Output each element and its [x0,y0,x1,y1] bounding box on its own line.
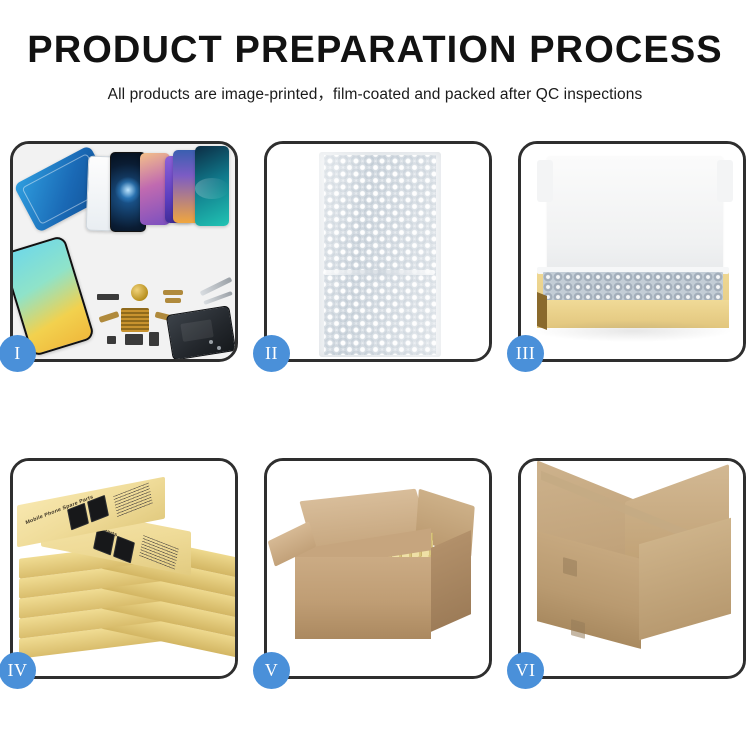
part-screw-2 [217,346,221,350]
process-step-panel-2: II [264,141,492,362]
box-label-phone-image-4 [113,536,135,564]
part-speaker-coil [131,284,148,301]
process-step-panel-5: V [264,458,492,679]
part-flex-cable-1 [163,290,183,295]
process-step-panel-1: I [10,141,238,362]
page-header: PRODUCT PREPARATION PROCESS All products… [0,0,750,104]
carton-side-face [431,530,471,632]
part-logic-board [166,305,235,359]
bubble-wrap-sheet [319,152,441,357]
process-step-panel-6: VI [518,458,746,679]
bubble-wrap-texture [324,155,436,355]
box-label-spec-lines-2 [139,535,179,570]
phone-screen-teal [195,146,229,226]
inner-box-shadow [533,320,733,342]
bubble-wrap-seam [323,270,435,275]
inner-box-bubble-fill [543,272,723,302]
part-connector [97,294,119,300]
part-chip-array [121,308,149,332]
process-step-panel-3: III [518,141,746,362]
step-badge-6: VI [507,652,544,689]
part-screw-1 [209,340,213,344]
sealed-carton-tab-upper [563,557,577,577]
part-camera-module [125,334,143,345]
step-2-image [267,144,489,359]
part-button-small [107,336,116,344]
step-badge-2: II [253,335,290,372]
page-subtitle: All products are image-printed，film-coat… [0,71,750,104]
sealed-carton-tab-lower [571,619,585,639]
part-flex-cable-2 [165,298,181,303]
step-badge-1: I [0,335,36,372]
process-step-grid: I II III [10,141,741,679]
page-title: PRODUCT PREPARATION PROCESS [0,0,750,71]
inner-box-lid [547,156,723,281]
step-5-image [267,461,489,676]
carton-front-face [295,557,431,639]
step-badge-4: IV [0,652,36,689]
step-4-image: Mobile Phone Spare Parts Mobile Phone Sp… [13,461,235,676]
step-3-image [521,144,743,359]
part-battery-small [149,332,159,346]
product-preparation-page: PRODUCT PREPARATION PROCESS All products… [0,0,750,750]
step-badge-3: III [507,335,544,372]
step-badge-5: V [253,652,290,689]
step-6-image [521,461,743,676]
box-label-spec-lines-1 [113,483,153,518]
step-1-image [13,144,235,359]
part-flex-cable-3 [99,311,120,323]
process-step-panel-4: Mobile Phone Spare Parts Mobile Phone Sp… [10,458,238,679]
